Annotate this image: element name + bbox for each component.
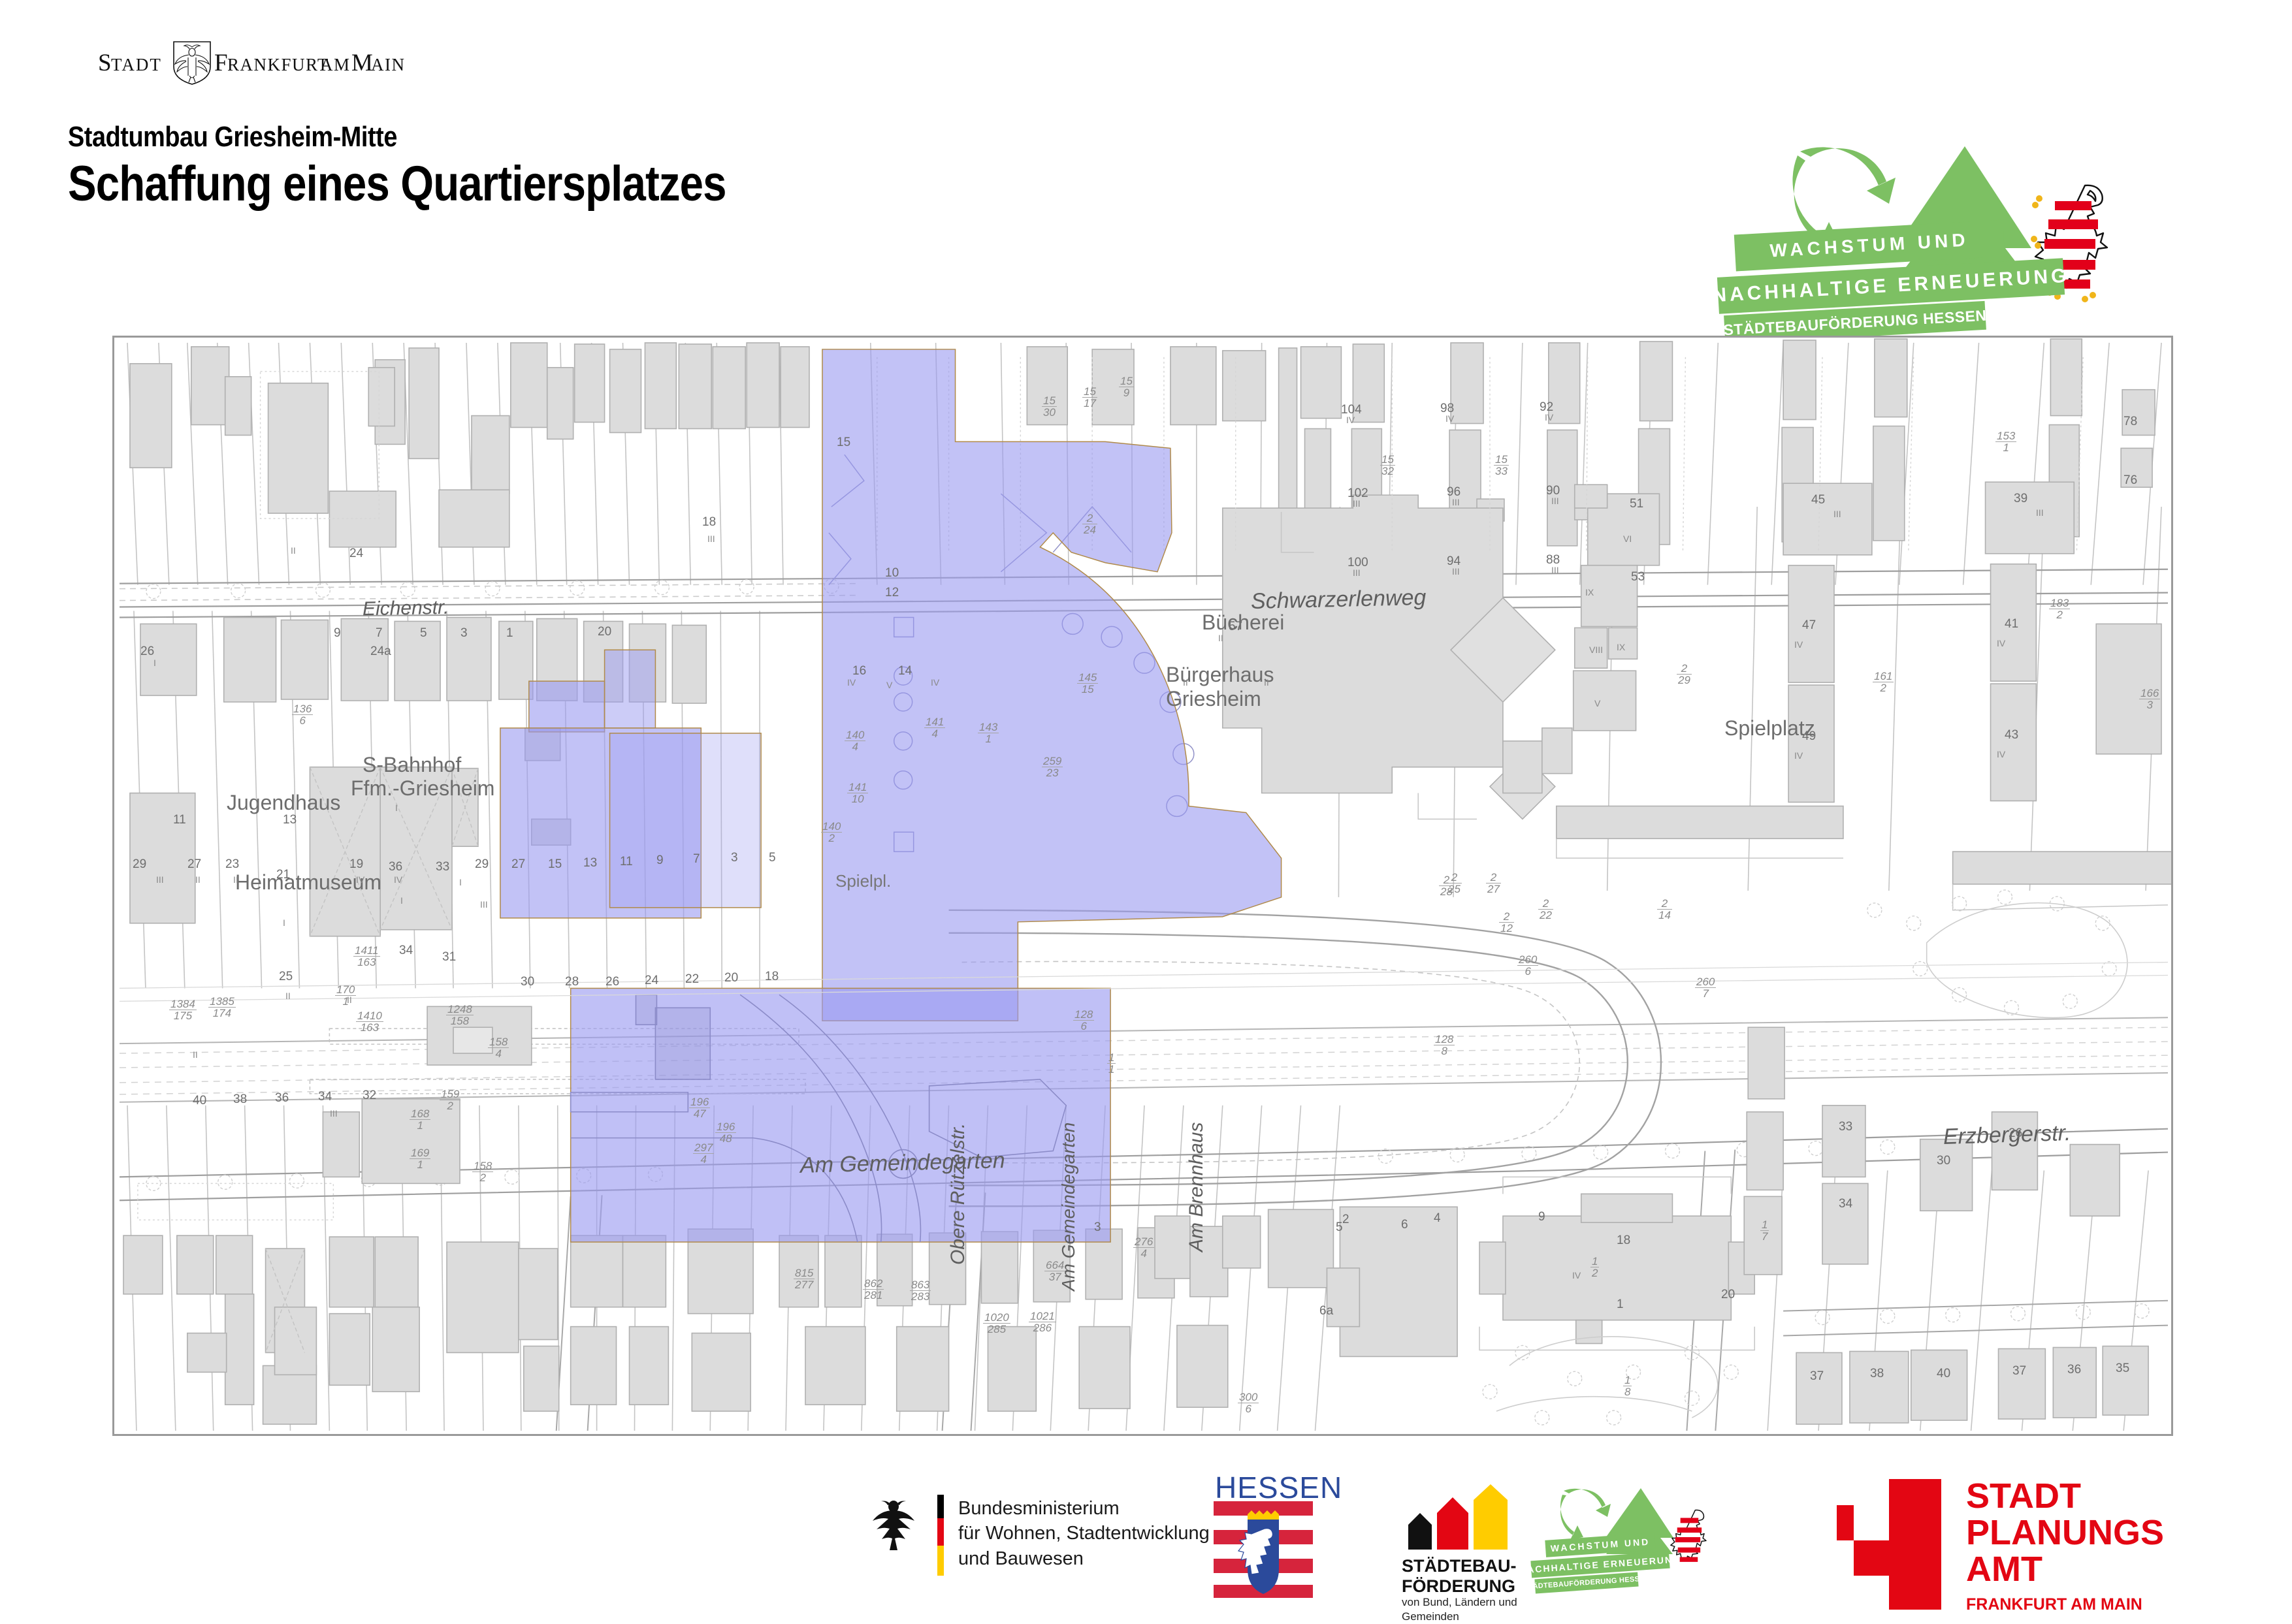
- parcel-fraction: 1384175: [169, 998, 197, 1021]
- parcel-fraction: 159: [1119, 375, 1134, 398]
- house-number: 24: [349, 547, 363, 561]
- house-number: 51: [1630, 497, 1643, 511]
- parcel-fraction: 1663: [2139, 688, 2160, 710]
- svg-text:RANKFURT: RANKFURT: [227, 55, 329, 74]
- parcel-fraction: 229: [1677, 663, 1692, 686]
- building-storeys: I: [400, 895, 403, 906]
- parcel-fraction: 1411163: [353, 945, 380, 968]
- house-number: 6a: [1319, 1304, 1333, 1318]
- svg-text:S: S: [98, 50, 112, 76]
- building-storeys: VIII: [1589, 645, 1603, 655]
- building-storeys: III: [1551, 565, 1559, 575]
- building-storeys: IV: [847, 677, 856, 688]
- parcel-fraction: 1691: [410, 1147, 430, 1170]
- house-number: 23: [225, 857, 239, 872]
- parcel-fraction: 214: [1657, 898, 1672, 921]
- house-number: 31: [442, 950, 456, 964]
- parcel-fraction: 25923: [1042, 756, 1063, 778]
- parcel-fraction: 228: [1439, 874, 1454, 897]
- house-number: 3: [1094, 1220, 1101, 1235]
- parcel-fraction: 224: [1082, 513, 1097, 535]
- building-storeys: II: [233, 874, 238, 885]
- parcel-fraction: 1404: [845, 729, 865, 752]
- footer-logo-bar: Bundesministerium für Wohnen, Stadtentwi…: [0, 1473, 2292, 1619]
- house-number: 5: [1336, 1220, 1343, 1235]
- building-storeys: II: [1218, 633, 1223, 643]
- house-number: 33: [1839, 1120, 1852, 1134]
- building-storeys: IV: [1997, 749, 2005, 759]
- building-storeys: IV: [1997, 638, 2005, 648]
- house-number: 34: [1839, 1197, 1852, 1211]
- house-number: 53: [1631, 570, 1645, 584]
- building-storeys: III: [1452, 566, 1460, 577]
- building-storeys: IV: [394, 874, 402, 885]
- parcel-fraction: 815277: [794, 1267, 815, 1290]
- house-number: 40: [193, 1094, 206, 1108]
- parcel-fraction: 1832: [2049, 597, 2070, 620]
- spa-line2: PLANUNGS: [1966, 1514, 2164, 1551]
- parcel-fraction: 1584: [488, 1036, 509, 1059]
- house-number: 20: [724, 971, 738, 985]
- house-number: 41: [2005, 617, 2018, 631]
- parcel-fraction: 1612: [1873, 671, 1894, 693]
- house-number: 38: [1870, 1367, 1884, 1381]
- parcel-fraction: 863283: [910, 1279, 931, 1302]
- house-number: 3: [460, 626, 468, 641]
- parcel-fraction: 1248158: [446, 1004, 474, 1027]
- building-storeys: III: [1833, 509, 1841, 519]
- house-number: 76: [2123, 473, 2137, 488]
- building-storeys: II: [1183, 677, 1188, 688]
- staedtebau-line1: STÄDTEBAU-: [1402, 1556, 1517, 1576]
- building-storeys: I: [459, 877, 462, 887]
- house-number: 29: [475, 857, 489, 872]
- cadastral-map[interactable]: Eichenstr. Schwarzerlenweg Erzbergerstr.…: [112, 336, 2173, 1436]
- three-houses-icon: [1402, 1484, 1513, 1550]
- spa-line1: STADT: [1966, 1478, 2164, 1514]
- house-number: 26: [140, 645, 154, 659]
- building-storeys: III: [1353, 567, 1361, 578]
- house-number: 26: [605, 975, 619, 989]
- parcel-fraction: 1681: [410, 1108, 430, 1131]
- project-subtitle: Stadtumbau Griesheim-Mitte: [68, 121, 397, 153]
- house-number: 26: [2009, 1126, 2022, 1141]
- building-storeys: III: [1452, 497, 1460, 507]
- house-number: 1: [506, 626, 513, 641]
- house-number: 47: [1802, 618, 1816, 633]
- building-storeys: III: [330, 1108, 338, 1119]
- building-storeys: II: [193, 1049, 198, 1060]
- house-number: 9: [334, 626, 341, 641]
- building-storeys: III: [707, 533, 715, 544]
- house-number: 24a: [370, 645, 391, 659]
- parcel-fraction: 222: [1538, 898, 1553, 921]
- building-storeys: II: [1264, 677, 1269, 688]
- house-number: 37: [1810, 1369, 1824, 1384]
- house-number: 16: [852, 664, 866, 678]
- parcel-fraction: 14515: [1077, 672, 1098, 695]
- building-storeys: II: [285, 991, 291, 1001]
- building-storeys: V: [1594, 698, 1600, 709]
- house-number: 10: [885, 566, 899, 581]
- house-number: 7: [693, 852, 700, 867]
- building-storeys: III: [2036, 507, 2044, 518]
- map-drawing: [114, 338, 2171, 1434]
- house-number: 9: [656, 853, 664, 868]
- parcel-fraction: 1431: [978, 722, 999, 744]
- parcel-fraction: 1701: [335, 984, 356, 1007]
- house-number: 15: [837, 436, 850, 450]
- parcel-fraction: 1592: [440, 1089, 460, 1111]
- bmw-line2: für Wohnen, Stadtentwicklung: [958, 1521, 1210, 1546]
- house-number: 36: [275, 1091, 289, 1106]
- building-storeys: IV: [1445, 413, 1454, 424]
- parcel-fraction: 14110: [847, 782, 868, 804]
- city-crest-icon: S TADT F RANKFURT AM M AIN: [98, 38, 516, 85]
- svg-text:M: M: [351, 50, 373, 76]
- parcel-fraction: 2764: [1133, 1236, 1154, 1259]
- parcel-fraction: 17: [1760, 1219, 1769, 1242]
- house-number: 5: [769, 851, 776, 865]
- parcel-fraction: 19648: [715, 1121, 736, 1144]
- building-storeys: I: [283, 917, 285, 928]
- house-number: 78: [2123, 415, 2137, 429]
- parcel-fraction: 1533: [1494, 454, 1509, 477]
- bmw-line3: und Bauwesen: [958, 1546, 1210, 1571]
- spa-sub: FRANKFURT AM MAIN: [1966, 1595, 2142, 1614]
- building-storeys: IX: [1585, 587, 1594, 597]
- house-number: 7: [376, 626, 383, 641]
- parcel-fraction: 1517: [1082, 386, 1097, 409]
- house-number: 11: [173, 813, 186, 827]
- house-number: 19: [349, 857, 363, 872]
- parcel-fraction: 862281: [863, 1278, 884, 1301]
- parcel-fraction: 18: [1623, 1375, 1632, 1397]
- house-number: 18: [702, 515, 716, 530]
- house-number: 21: [276, 868, 290, 882]
- building-storeys: V: [886, 680, 892, 690]
- parcel-fraction: 2974: [693, 1142, 714, 1165]
- house-number: 18: [1617, 1234, 1630, 1248]
- house-number: 49: [1802, 729, 1816, 744]
- building-storeys: IV: [1572, 1270, 1581, 1281]
- house-number: 20: [1721, 1288, 1735, 1302]
- house-number: 28: [565, 975, 579, 989]
- building-storeys: VI: [1623, 533, 1632, 544]
- house-number: 43: [2005, 728, 2018, 742]
- parcel-fraction: 2606: [1517, 954, 1538, 977]
- house-number: 14: [898, 664, 912, 678]
- parcel-fraction: 1385174: [208, 996, 236, 1019]
- house-number: 30: [521, 975, 534, 989]
- parcel-fraction: 1414: [924, 716, 945, 739]
- staedtebau-line2: FÖRDERUNG: [1402, 1576, 1517, 1597]
- house-number: 38: [233, 1092, 247, 1107]
- house-number: 33: [436, 860, 449, 874]
- house-number: 57: [1229, 620, 1242, 634]
- house-number: 25: [279, 970, 293, 984]
- house-number: 34: [318, 1090, 332, 1104]
- parcel-fraction: 12: [1590, 1256, 1599, 1279]
- building-storeys: III: [156, 874, 164, 885]
- spa-mark-icon: [1837, 1479, 1941, 1610]
- parcel-fraction: 1530: [1042, 395, 1057, 418]
- stadt-frankfurt-logo: S TADT F RANKFURT AM M AIN: [98, 38, 516, 85]
- house-number: 29: [133, 857, 146, 872]
- svg-text:AM: AM: [320, 55, 351, 74]
- house-number: 2: [1342, 1213, 1349, 1227]
- house-number: 4: [1434, 1211, 1441, 1226]
- building-storeys: IV: [1545, 412, 1553, 422]
- page-title: Schaffung eines Quartiersplatzes: [68, 155, 726, 212]
- house-number: 34: [399, 944, 413, 958]
- parcel-fraction: 1020285: [983, 1312, 1010, 1335]
- house-number: 27: [511, 857, 525, 872]
- building-storeys: IV: [1346, 415, 1355, 425]
- house-number: 9: [1538, 1210, 1545, 1224]
- parcel-fraction: 1714: [2172, 690, 2173, 713]
- parcel-fraction: 1532: [1380, 454, 1395, 477]
- hessen-wordmark: HESSEN: [1215, 1470, 1342, 1505]
- parcel-fraction: 66437: [1044, 1260, 1065, 1282]
- house-number: 36: [389, 860, 402, 874]
- parcel-fraction: 227: [1486, 872, 1501, 895]
- building-storeys: II: [195, 874, 201, 885]
- house-number: 39: [2014, 492, 2027, 506]
- house-number: 37: [2012, 1364, 2026, 1378]
- parcel-fraction: 1531: [1995, 430, 2016, 453]
- house-number: 13: [583, 856, 597, 870]
- parcel-fraction: 1582: [472, 1160, 493, 1183]
- house-number: 1: [1617, 1298, 1624, 1312]
- house-number: 20: [598, 625, 611, 639]
- house-number: 18: [765, 970, 779, 984]
- house-number: 24: [645, 974, 658, 988]
- building-storeys: IV: [1794, 639, 1803, 650]
- parcel-fraction: 2607: [1695, 976, 1716, 999]
- svg-text:AIN: AIN: [371, 55, 406, 74]
- building-storeys: I: [395, 803, 398, 813]
- house-number: 22: [685, 972, 699, 987]
- parcel-fraction: 1366: [292, 703, 313, 726]
- house-number: 12: [885, 586, 899, 600]
- parcel-fraction: 1021286: [1029, 1311, 1056, 1333]
- building-storeys: III: [480, 899, 488, 910]
- parcel-fraction: 212: [1499, 911, 1514, 934]
- bmw-line1: Bundesministerium: [958, 1496, 1210, 1521]
- svg-text:TADT: TADT: [111, 55, 162, 74]
- parcel-fraction: 19647: [689, 1096, 710, 1119]
- house-number: 3: [731, 851, 738, 865]
- house-number: 36: [2067, 1363, 2081, 1377]
- house-number: 6: [1401, 1218, 1408, 1232]
- building-storeys: IV: [356, 874, 364, 885]
- staedtebau-sub2: Gemeinden: [1402, 1610, 1517, 1624]
- house-number: 45: [1811, 493, 1825, 507]
- bundesadler-icon: [865, 1492, 922, 1557]
- building-storeys: II: [347, 995, 352, 1005]
- parcel-fraction: 1286: [1073, 1009, 1094, 1032]
- building-storeys: IX: [1617, 642, 1625, 652]
- building-storeys: I: [153, 658, 156, 668]
- hessen-coat-of-arms-icon: [1214, 1501, 1313, 1598]
- parcel-fraction: 1288: [1434, 1034, 1455, 1057]
- house-number: 15: [548, 857, 562, 872]
- svg-text:F: F: [214, 50, 228, 76]
- house-number: 40: [1937, 1367, 1950, 1381]
- spa-line3: AMT: [1966, 1551, 2164, 1587]
- house-number: 27: [187, 857, 201, 872]
- house-number: 11: [620, 855, 633, 869]
- house-number: 30: [1937, 1154, 1950, 1168]
- building-storeys: IV: [1794, 750, 1803, 761]
- staedtebau-sub1: von Bund, Ländern und: [1402, 1595, 1517, 1610]
- parcel-fraction: 3006: [1238, 1392, 1259, 1414]
- house-number: 32: [363, 1089, 376, 1103]
- house-number: 5: [420, 626, 427, 641]
- building-storeys: IV: [931, 677, 939, 688]
- building-storeys: III: [1353, 498, 1361, 509]
- parcel-fraction: 1402: [821, 821, 842, 844]
- house-number: 13: [283, 813, 297, 827]
- building-storeys: II: [291, 545, 296, 556]
- program-logo-footer: WACHSTUM UND NACHHALTIGE ERNEUERUNG STÄD…: [1528, 1478, 1724, 1608]
- parcel-fraction: 1410163: [356, 1010, 383, 1033]
- building-storeys: III: [1551, 496, 1559, 506]
- parcel-fraction: 11: [1107, 1052, 1116, 1075]
- house-number: 35: [2116, 1361, 2129, 1376]
